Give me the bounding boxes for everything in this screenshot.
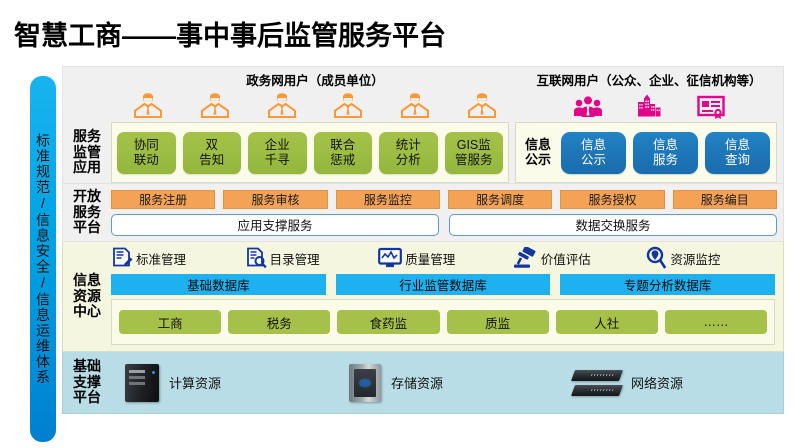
net-users-icons (515, 89, 783, 119)
architecture-stack: 政务网用户（成员单位） 互联网用户（公众、企业、征信机构等） (62, 66, 784, 444)
service-tag-2[interactable]: 服务审核 (223, 190, 327, 209)
base-resource-network-switch: 网络资源 (559, 370, 783, 396)
service-bar-2[interactable]: 数据交换服务 (449, 214, 777, 236)
users-band: 政务网用户（成员单位） 互联网用户（公众、企业、征信机构等） (62, 66, 784, 122)
app-button-5[interactable]: 统计分析 (379, 132, 438, 174)
btn-line2: 分析 (396, 153, 421, 167)
btn-line2: 联动 (134, 153, 159, 167)
base-resource-label: 网络资源 (631, 373, 683, 392)
row-information-resource-center: 信息 资源 中心 标准管理目录管理质量管理价值评估资源监控 基础数据库行业监管数… (62, 242, 784, 352)
row-open-service-platform: 开放 服务 平台 服务注册服务审核服务监控服务调度服务授权服务编目 应用支撑服务… (62, 184, 784, 242)
gov-users-title: 政务网用户（成员单位） (115, 67, 515, 89)
info-tool-gavel[interactable]: 价值评估 (512, 247, 642, 269)
department-1[interactable]: 工商 (119, 310, 221, 334)
btn-line1: 联合 (330, 138, 355, 152)
info-tool-document-pen[interactable]: 标准管理 (111, 247, 241, 269)
row-base-support-platform: 基础 支撑 平台 计算资源存储资源网络资源 (62, 352, 784, 414)
gov-apps-panel: 协同联动双告知企业千寻联合惩戒统计分析GIS监管服务 (111, 122, 509, 183)
service-bars-container: 应用支撑服务数据交换服务 (111, 214, 777, 236)
app-button-4[interactable]: 联合惩戒 (314, 132, 373, 174)
user-tie-icon (382, 93, 449, 119)
network-switch-icon (573, 370, 621, 396)
row-label-info: 信息 资源 中心 (63, 242, 111, 351)
department-4[interactable]: 质监 (447, 310, 549, 334)
btn-line1: 信息 (581, 138, 606, 152)
btn-line1: 统计 (396, 138, 421, 152)
user-tie-icon (182, 93, 249, 119)
info-publicity-panel: 信息 公示 信息公示信息服务信息查询 (515, 122, 777, 183)
service-bar-1[interactable]: 应用支撑服务 (111, 214, 439, 236)
user-tie-icon (448, 93, 515, 119)
app-button-1[interactable]: 协同联动 (117, 132, 176, 174)
publicity-label: 信息 公示 (522, 138, 554, 167)
info-tool-label: 价值评估 (541, 249, 591, 268)
btn-line2: 查询 (725, 153, 750, 167)
app-button-6[interactable]: GIS监管服务 (445, 132, 504, 174)
base-resource-label: 存储资源 (391, 373, 443, 392)
diagram-canvas: 智慧工商——事中事后监管服务平台 标准规范/信息安全/信息运维体系 政务网用户（… (0, 0, 797, 448)
gavel-icon (512, 247, 538, 269)
department-5[interactable]: 人社 (556, 310, 658, 334)
sidebar-standards-bar: 标准规范/信息安全/信息运维体系 (30, 76, 56, 442)
info-tool-label: 资源监控 (670, 249, 720, 268)
info-tool-monitor[interactable]: 质量管理 (378, 247, 508, 269)
info-tool-label: 目录管理 (270, 249, 320, 268)
departments-panel: 工商税务食药监质监人社…… (111, 299, 775, 345)
service-tag-5[interactable]: 服务授权 (560, 190, 664, 209)
service-tag-3[interactable]: 服务监控 (336, 190, 440, 209)
publicity-button-3[interactable]: 信息查询 (705, 132, 770, 174)
people-group-icon (573, 95, 603, 119)
app-button-2[interactable]: 双告知 (183, 132, 242, 174)
buildings-icon (637, 93, 663, 119)
base-resource-server-tower: 计算资源 (111, 364, 335, 402)
document-pen-icon (111, 247, 133, 269)
database-2[interactable]: 行业监管数据库 (336, 274, 551, 295)
storage-array-icon (349, 364, 381, 402)
base-resource-storage-array: 存储资源 (335, 364, 559, 402)
btn-line1: 信息 (653, 138, 678, 152)
info-body: 标准管理目录管理质量管理价值评估资源监控 基础数据库行业监管数据库专题分析数据库… (111, 242, 783, 351)
net-users-title: 互联网用户（公众、企业、征信机构等） (515, 67, 783, 89)
btn-line1: 协同 (134, 138, 159, 152)
net-users-group: 互联网用户（公众、企业、征信机构等） (515, 67, 783, 123)
user-tie-icon (315, 93, 382, 119)
row-label-open: 开放 服务 平台 (63, 184, 111, 241)
gov-users-group: 政务网用户（成员单位） (115, 67, 515, 123)
row-label-apps: 服务 监管 应用 (63, 122, 111, 183)
database-3[interactable]: 专题分析数据库 (560, 274, 775, 295)
server-tower-icon (125, 364, 159, 402)
database-1[interactable]: 基础数据库 (111, 274, 326, 295)
info-tool-magnifier-pin[interactable]: 资源监控 (645, 246, 775, 270)
databases-container: 基础数据库行业监管数据库专题分析数据库 (111, 274, 775, 295)
info-tool-label: 质量管理 (405, 249, 455, 268)
info-icon-row: 标准管理目录管理质量管理价值评估资源监控 (111, 246, 775, 270)
base-body: 计算资源存储资源网络资源 (111, 352, 783, 413)
department-2[interactable]: 税务 (228, 310, 330, 334)
row-label-base: 基础 支撑 平台 (63, 352, 111, 413)
sidebar-label: 标准规范/信息安全/信息运维体系 (36, 133, 50, 385)
magnifier-pin-icon (645, 246, 667, 270)
open-body: 服务注册服务审核服务监控服务调度服务授权服务编目 应用支撑服务数据交换服务 (111, 184, 783, 241)
info-tool-label: 标准管理 (136, 249, 186, 268)
user-tie-icon (248, 93, 315, 119)
blue-buttons-container: 信息公示信息服务信息查询 (561, 132, 770, 174)
department-3[interactable]: 食药监 (337, 310, 439, 334)
apps-body: 协同联动双告知企业千寻联合惩戒统计分析GIS监管服务 信息 公示 信息公示信息服… (111, 122, 783, 183)
page-title: 智慧工商——事中事后监管服务平台 (14, 14, 446, 53)
document-search-icon (245, 247, 267, 269)
base-resource-label: 计算资源 (169, 373, 221, 392)
certificate-icon (697, 95, 725, 119)
gov-users-icons (115, 89, 515, 119)
btn-line2: 服务 (653, 153, 678, 167)
service-tag-6[interactable]: 服务编目 (673, 190, 777, 209)
btn-line1: GIS监 (457, 138, 491, 152)
user-tie-icon (115, 93, 182, 119)
app-button-3[interactable]: 企业千寻 (248, 132, 307, 174)
btn-line2: 惩戒 (330, 153, 355, 167)
row-service-supervision-apps: 服务 监管 应用 协同联动双告知企业千寻联合惩戒统计分析GIS监管服务 信息 公… (62, 122, 784, 184)
btn-line1: 双 (205, 138, 218, 152)
btn-line2: 告知 (199, 153, 224, 167)
btn-line1: 信息 (725, 138, 750, 152)
service-tag-1[interactable]: 服务注册 (111, 190, 215, 209)
service-tag-4[interactable]: 服务调度 (448, 190, 552, 209)
department-6[interactable]: …… (665, 310, 767, 334)
publicity-button-2[interactable]: 信息服务 (633, 132, 698, 174)
service-tags-container: 服务注册服务审核服务监控服务调度服务授权服务编目 (111, 190, 777, 209)
publicity-button-1[interactable]: 信息公示 (561, 132, 626, 174)
info-tool-document-search[interactable]: 目录管理 (245, 247, 375, 269)
btn-line2: 公示 (581, 153, 606, 167)
btn-line2: 千寻 (265, 153, 290, 167)
btn-line2: 管服务 (455, 153, 493, 167)
btn-line1: 企业 (265, 138, 290, 152)
monitor-icon (378, 247, 402, 269)
